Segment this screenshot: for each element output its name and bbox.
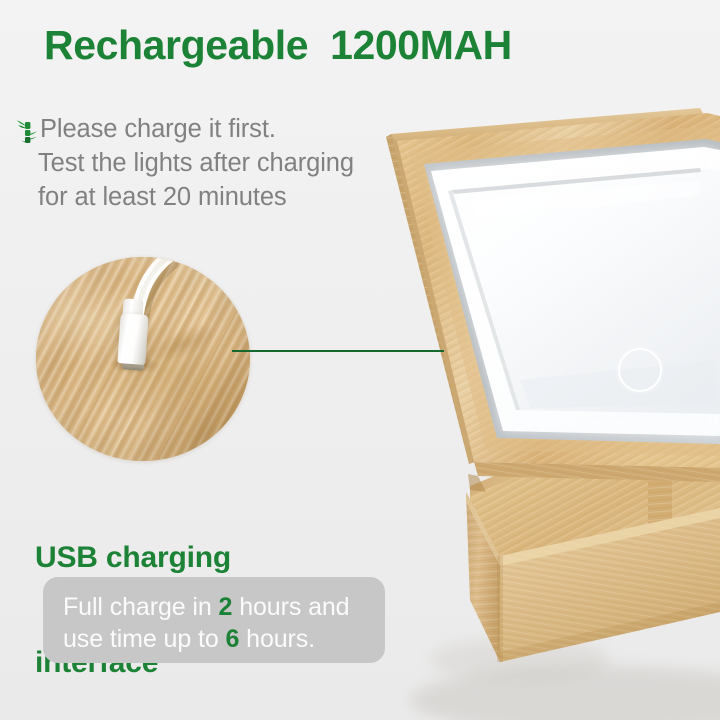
caption-full-charge-hours: 2	[219, 593, 233, 621]
instructions-block: Please charge it first. Test the lights …	[14, 112, 414, 214]
led-mirror-panel-assembly	[386, 108, 720, 492]
caption-line-2: use time up to 6 hours.	[63, 623, 365, 655]
caption-line-1-post: hours and	[232, 593, 349, 621]
product-infographic: Rechargeable 1200MAH Please charge it fi…	[0, 0, 720, 720]
caption-line-1-pre: Full charge in	[63, 593, 219, 621]
caption-line-2-pre: use time up to	[63, 625, 225, 653]
callout-leader-line	[232, 350, 444, 352]
usb-label-line-1: USB charging	[35, 540, 231, 575]
caption-line-2-post: hours.	[239, 625, 315, 653]
instruction-line-3: for at least 20 minutes	[14, 180, 414, 214]
usb-plug-body	[117, 313, 148, 365]
bamboo-stalk-icon	[16, 118, 42, 146]
instruction-line-1: Please charge it first.	[14, 112, 414, 146]
product-shadow	[410, 638, 720, 720]
touch-sensor-ring[interactable]	[618, 348, 662, 392]
charge-time-caption-box: Full charge in 2 hours and use time up t…	[43, 577, 385, 663]
caption-line-1: Full charge in 2 hours and	[63, 591, 365, 623]
caption-use-time-hours: 6	[225, 625, 239, 653]
page-title: Rechargeable 1200MAH	[44, 22, 512, 69]
instruction-line-2: Test the lights after charging	[14, 146, 414, 180]
usb-port-detail-inset	[36, 257, 250, 461]
